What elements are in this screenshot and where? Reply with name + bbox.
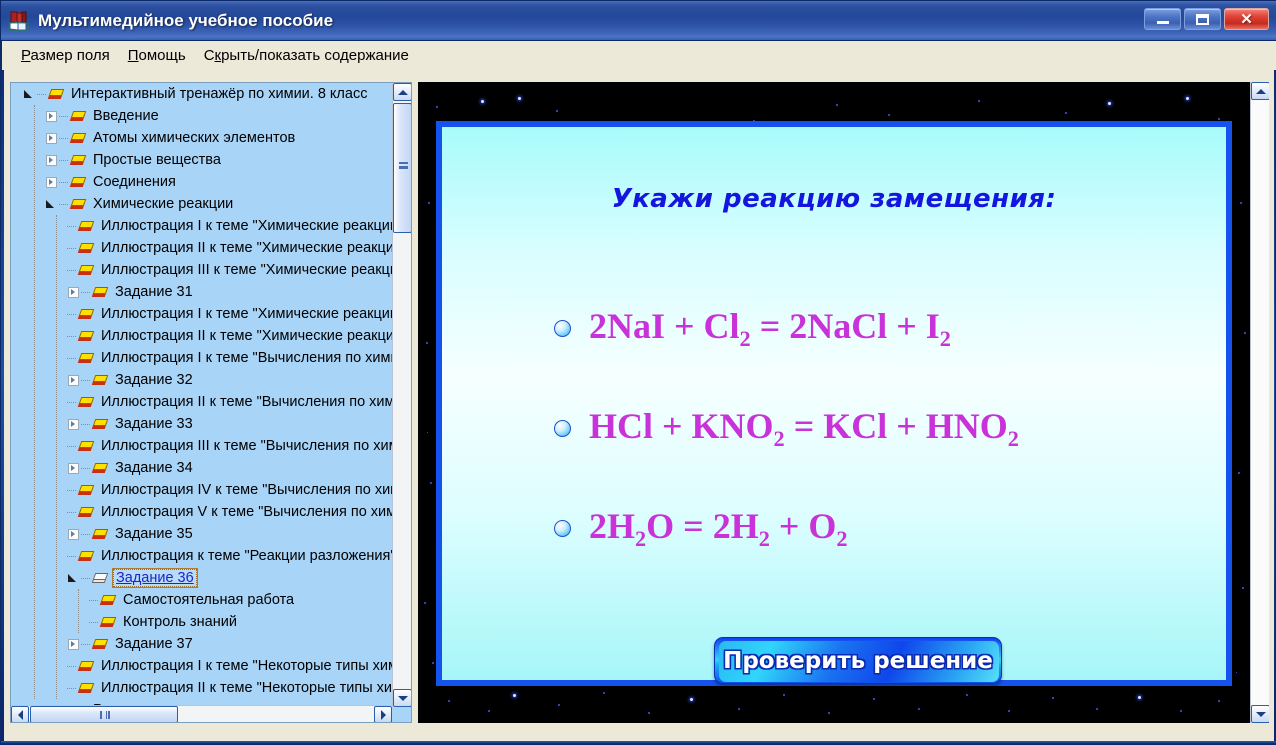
star-icon	[1244, 332, 1246, 334]
star-icon	[424, 602, 426, 604]
star-icon	[513, 694, 516, 697]
scroll-right-icon	[381, 710, 386, 720]
book-icon	[92, 374, 108, 387]
content-scroll-up-button[interactable]	[1251, 82, 1269, 100]
tree-item-label: Иллюстрация I к теме "Вычисления по хими…	[99, 350, 392, 366]
tree-item[interactable]: Химические реакции	[11, 193, 392, 215]
tree-connector-line	[67, 490, 76, 491]
scroll-thumb-grip-icon	[399, 162, 408, 169]
tree-guide-line	[34, 105, 35, 699]
tree-item[interactable]: Контроль знаний	[11, 611, 392, 633]
book-icon	[92, 286, 108, 299]
content-scroll-down-button[interactable]	[1251, 705, 1269, 723]
tree-item[interactable]: Иллюстрация V к теме "Вычисления по хими…	[11, 501, 392, 523]
books-icon	[8, 10, 30, 32]
tree-connector-line	[67, 688, 76, 689]
tree-item-label: Иллюстрация I к теме "Некоторые типы хим…	[99, 658, 392, 674]
book-icon	[78, 682, 94, 695]
expand-toggle-icon[interactable]	[67, 375, 78, 386]
tree-connector-line	[81, 380, 90, 381]
tree-item-label: Иллюстрация III к теме "Вычисления по хи…	[99, 438, 392, 454]
tree-item-label: Атомы химических элементов	[91, 130, 297, 146]
book-icon	[78, 220, 94, 233]
star-icon	[783, 694, 785, 696]
tree-item-label: Иллюстрация V к теме "Вычисления по хими…	[99, 504, 392, 520]
scroll-down-icon	[398, 696, 408, 701]
maximize-button[interactable]	[1184, 8, 1221, 30]
tree-item[interactable]: Задание 35	[11, 523, 392, 545]
check-solution-label: Проверить решение	[723, 648, 993, 674]
tree-connector-line	[59, 138, 68, 139]
tree-item[interactable]: Иллюстрация II к теме "Некоторые типы хи…	[11, 677, 392, 699]
tree-vertical-scrollbar[interactable]	[392, 83, 411, 707]
scroll-thumb-grip-icon	[100, 711, 110, 719]
tree-item[interactable]: Иллюстрация III к теме "Химические реакц…	[11, 259, 392, 281]
star-icon	[1052, 697, 1054, 699]
tree-item[interactable]: Задание 32	[11, 369, 392, 391]
star-icon	[448, 700, 450, 702]
star-icon	[836, 104, 838, 106]
tree-item-label: Иллюстрация к теме "Реакции разложения"	[99, 548, 392, 564]
star-icon	[918, 708, 920, 710]
tree-item-label: Иллюстрация II к теме "Вычисления по хим…	[99, 394, 392, 410]
tree-item-label: Задание 32	[113, 372, 195, 388]
tree-connector-line	[67, 556, 76, 557]
tree-item[interactable]: Задание 31	[11, 281, 392, 303]
tree-connector-line	[67, 314, 76, 315]
expand-toggle-icon[interactable]	[45, 133, 56, 144]
bullet-icon[interactable]	[554, 520, 571, 537]
client-area: Интерактивный тренажёр по химии. 8 класс…	[4, 70, 1274, 743]
star-icon	[1008, 710, 1010, 712]
star-icon	[1218, 118, 1220, 120]
tree-item-label: Иллюстрация II к теме "Химические реакци…	[99, 328, 392, 344]
tree-item[interactable]: Простые вещества	[11, 149, 392, 171]
tree-connector-line	[81, 424, 90, 425]
tree-item-label: Задание 34	[113, 460, 195, 476]
collapse-toggle-icon[interactable]	[45, 199, 56, 210]
tree-connector-line	[67, 226, 76, 227]
expand-toggle-icon[interactable]	[45, 111, 56, 122]
tree-item[interactable]: Иллюстрация I к теме "Вычисления по хими…	[11, 347, 392, 369]
book-icon	[92, 638, 108, 651]
tree-item-label: Иллюстрация II к теме "Некоторые типы хи…	[99, 680, 392, 696]
scroll-up-icon	[398, 90, 408, 95]
tree-item-label: Иллюстрация III к теме "Химические реакц…	[99, 262, 392, 278]
tree-connector-line	[67, 402, 76, 403]
tree-item[interactable]: Интерактивный тренажёр по химии. 8 класс	[11, 83, 392, 105]
book-icon	[78, 550, 94, 563]
slide: Укажи реакцию замещения: 2NaI + Cl2 = 2N…	[436, 121, 1232, 686]
star-icon	[426, 342, 428, 344]
star-icon	[436, 106, 438, 108]
tree-connector-line	[59, 182, 68, 183]
tree-item-label: Контроль знаний	[121, 614, 239, 630]
book-icon	[70, 176, 86, 189]
collapse-toggle-icon[interactable]	[23, 89, 34, 100]
tree-guide-line	[56, 215, 57, 699]
star-icon	[888, 114, 890, 116]
equation-option[interactable]: 2H2O = 2H2 + O2	[554, 505, 848, 552]
tree-connector-line	[67, 446, 76, 447]
star-icon	[738, 708, 740, 710]
tree-item[interactable]: Атомы химических элементов	[11, 127, 392, 149]
tree-connector-line	[67, 248, 76, 249]
tree-guide-line	[78, 589, 79, 633]
equation-text: HCl + KNO2 = KCl + HNO2	[589, 405, 1019, 452]
tree-connector-line	[81, 292, 90, 293]
slide-title: Укажи реакцию замещения:	[442, 184, 1226, 214]
tree-item-label: Иллюстрация I к теме "Химические реакции…	[99, 306, 392, 322]
book-icon	[78, 330, 94, 343]
tree-connector-line	[81, 644, 90, 645]
tree-scroll-area[interactable]: Интерактивный тренажёр по химии. 8 класс…	[11, 83, 392, 707]
title-bar: Мультимедийное учебное пособие ✕	[1, 1, 1276, 41]
tree-item-label: Самостоятельная работа	[121, 592, 296, 608]
check-solution-button[interactable]: Проверить решение	[714, 637, 1002, 684]
star-icon	[648, 712, 650, 714]
book-icon	[92, 462, 108, 475]
tree-item[interactable]: Задание 34	[11, 457, 392, 479]
minimize-button[interactable]	[1144, 8, 1181, 30]
tree-connector-line	[67, 336, 76, 337]
tree-item[interactable]: Иллюстрация I к теме "Химические реакции…	[11, 215, 392, 237]
star-icon	[1240, 202, 1242, 204]
star-icon	[873, 698, 875, 700]
tree-horizontal-scrollbar[interactable]	[11, 705, 392, 722]
menu-bar: Размер поляПомощьСкрыть/показать содержа…	[2, 41, 1276, 70]
star-icon	[1238, 472, 1240, 474]
slide-inner: Укажи реакцию замещения: 2NaI + Cl2 = 2N…	[442, 127, 1226, 680]
tree-connector-line	[37, 94, 46, 95]
tree-item[interactable]: Задание 33	[11, 413, 392, 435]
menu-item-1[interactable]: Помощь	[119, 44, 195, 67]
expand-toggle-icon[interactable]	[45, 177, 56, 188]
book-icon	[78, 506, 94, 519]
tree-item[interactable]: Иллюстрация к теме "Реакции разложения"	[11, 545, 392, 567]
tree-item[interactable]: Самостоятельная работа	[11, 589, 392, 611]
tree-connector-line	[81, 534, 90, 535]
equation-text: 2H2O = 2H2 + O2	[589, 505, 848, 552]
tree-item[interactable]: Соединения	[11, 171, 392, 193]
star-icon	[1138, 696, 1141, 699]
tree-item[interactable]: Иллюстрация III к теме "Вычисления по хи…	[11, 435, 392, 457]
content-vertical-scrollbar[interactable]	[1250, 82, 1269, 723]
book-icon	[78, 242, 94, 255]
menu-item-2[interactable]: Скрыть/показать содержание	[195, 44, 418, 67]
tree-connector-line	[67, 358, 76, 359]
star-icon	[432, 662, 434, 664]
bullet-icon[interactable]	[554, 320, 571, 337]
tree-item[interactable]: Иллюстрация I к теме "Химические реакции…	[11, 303, 392, 325]
star-icon	[558, 704, 560, 706]
book-icon	[78, 484, 94, 497]
star-icon	[603, 692, 605, 694]
expand-toggle-icon[interactable]	[67, 287, 78, 298]
contents-tree-panel: Интерактивный тренажёр по химии. 8 класс…	[10, 82, 412, 723]
equation-text: 2NaI + Cl2 = 2NaCl + I2	[589, 305, 951, 352]
close-button[interactable]: ✕	[1224, 8, 1269, 30]
application-window: Мультимедийное учебное пособие ✕ Размер …	[0, 0, 1276, 745]
tree-vertical-scroll-thumb[interactable]	[393, 103, 412, 233]
tree-item-label: Иллюстрация II к теме "Химические реакци…	[99, 240, 392, 256]
expand-toggle-icon[interactable]	[45, 155, 56, 166]
expand-toggle-icon[interactable]	[67, 463, 78, 474]
tree-connector-line	[67, 270, 76, 271]
tree-connector-line	[59, 204, 68, 205]
book-icon	[70, 132, 86, 145]
star-icon	[481, 100, 484, 103]
tree-item-label: Простые вещества	[91, 152, 223, 168]
book-icon	[92, 418, 108, 431]
tree-item-label: Задание 36	[113, 569, 197, 587]
tree-horizontal-scroll-thumb[interactable]	[30, 706, 178, 723]
tree-scroll-left-button[interactable]	[11, 706, 29, 723]
tree-item-label: Иллюстрация I к теме "Химические реакции…	[99, 218, 392, 234]
collapse-toggle-icon[interactable]	[67, 573, 78, 584]
star-icon	[1108, 102, 1111, 105]
slide-viewer-panel: Укажи реакцию замещения: 2NaI + Cl2 = 2N…	[418, 82, 1269, 723]
book-icon	[78, 440, 94, 453]
tree-item-label: Задание 33	[113, 416, 195, 432]
book-icon	[70, 110, 86, 123]
tree-connector-line	[67, 666, 76, 667]
tree-connector-line	[67, 512, 76, 513]
tree-connector-line	[89, 600, 98, 601]
book-icon	[48, 88, 64, 101]
tree-connector-line	[59, 160, 68, 161]
scroll-down-icon	[1256, 712, 1266, 717]
star-icon	[1096, 708, 1098, 710]
bullet-icon[interactable]	[554, 420, 571, 437]
tree-item[interactable]: Иллюстрация II к теме "Химические реакци…	[11, 237, 392, 259]
book-icon	[78, 352, 94, 365]
expand-toggle-icon[interactable]	[67, 529, 78, 540]
tree-connector-line	[81, 578, 90, 579]
star-icon	[428, 202, 430, 204]
star-icon	[1236, 672, 1237, 673]
equation-option[interactable]: HCl + KNO2 = KCl + HNO2	[554, 405, 1019, 452]
tree-scroll-down-button[interactable]	[393, 689, 412, 707]
book-icon	[100, 616, 116, 629]
tree-connector-line	[81, 468, 90, 469]
tree-connector-line	[89, 622, 98, 623]
star-icon	[978, 100, 980, 102]
tree-scroll-right-button[interactable]	[374, 706, 392, 723]
scroll-up-icon	[1256, 89, 1266, 94]
star-icon	[690, 698, 693, 701]
close-icon: ✕	[1240, 12, 1253, 27]
tree-item-selected[interactable]: Задание 36	[11, 567, 392, 589]
menu-item-0[interactable]: Размер поля	[12, 44, 119, 67]
tree-item[interactable]: Иллюстрация IV к теме "Вычисления по хим…	[11, 479, 392, 501]
expand-toggle-icon[interactable]	[67, 419, 78, 430]
tree-item-label: Задание 37	[113, 636, 195, 652]
window-title: Мультимедийное учебное пособие	[38, 11, 333, 31]
star-icon	[1242, 587, 1244, 589]
book-icon	[70, 154, 86, 167]
expand-toggle-icon[interactable]	[67, 639, 78, 650]
star-icon	[966, 694, 968, 696]
tree-item[interactable]: Иллюстрация II к теме "Химические реакци…	[11, 325, 392, 347]
book-icon	[78, 660, 94, 673]
book-icon	[100, 594, 116, 607]
tree-item-label: Химические реакции	[91, 196, 235, 212]
window-bottom-edge	[1, 741, 1276, 744]
tree-item-label: Введение	[91, 108, 161, 124]
open-book-icon	[92, 572, 108, 585]
tree-scroll-up-button[interactable]	[393, 83, 412, 101]
tree-item-label: Иллюстрация IV к теме "Вычисления по хим…	[99, 482, 392, 498]
star-icon	[430, 482, 432, 484]
tree-item[interactable]: Задание 37	[11, 633, 392, 655]
star-icon	[1065, 112, 1067, 114]
scroll-left-icon	[18, 710, 23, 720]
minimize-icon	[1157, 21, 1169, 24]
window-controls: ✕	[1144, 8, 1269, 30]
maximize-icon	[1196, 14, 1209, 25]
tree-item-label: Интерактивный тренажёр по химии. 8 класс	[69, 86, 369, 102]
star-icon	[828, 712, 830, 714]
star-icon	[1186, 97, 1189, 100]
tree-item-label: Задание 35	[113, 526, 195, 542]
star-icon	[556, 110, 558, 112]
tree-item[interactable]: Иллюстрация I к теме "Некоторые типы хим…	[11, 655, 392, 677]
book-icon	[78, 396, 94, 409]
book-icon	[78, 264, 94, 277]
equation-option[interactable]: 2NaI + Cl2 = 2NaCl + I2	[554, 305, 951, 352]
tree-item-label: Задание 31	[113, 284, 195, 300]
book-icon	[78, 308, 94, 321]
tree-connector-line	[59, 116, 68, 117]
tree-item[interactable]: Введение	[11, 105, 392, 127]
star-icon	[488, 710, 490, 712]
book-icon	[70, 198, 86, 211]
book-icon	[92, 528, 108, 541]
tree-item-label: Соединения	[91, 174, 178, 190]
star-icon	[1218, 700, 1220, 702]
tree-item[interactable]: Иллюстрация II к теме "Вычисления по хим…	[11, 391, 392, 413]
star-icon	[518, 97, 521, 100]
star-icon	[427, 432, 428, 433]
star-icon	[1180, 710, 1182, 712]
